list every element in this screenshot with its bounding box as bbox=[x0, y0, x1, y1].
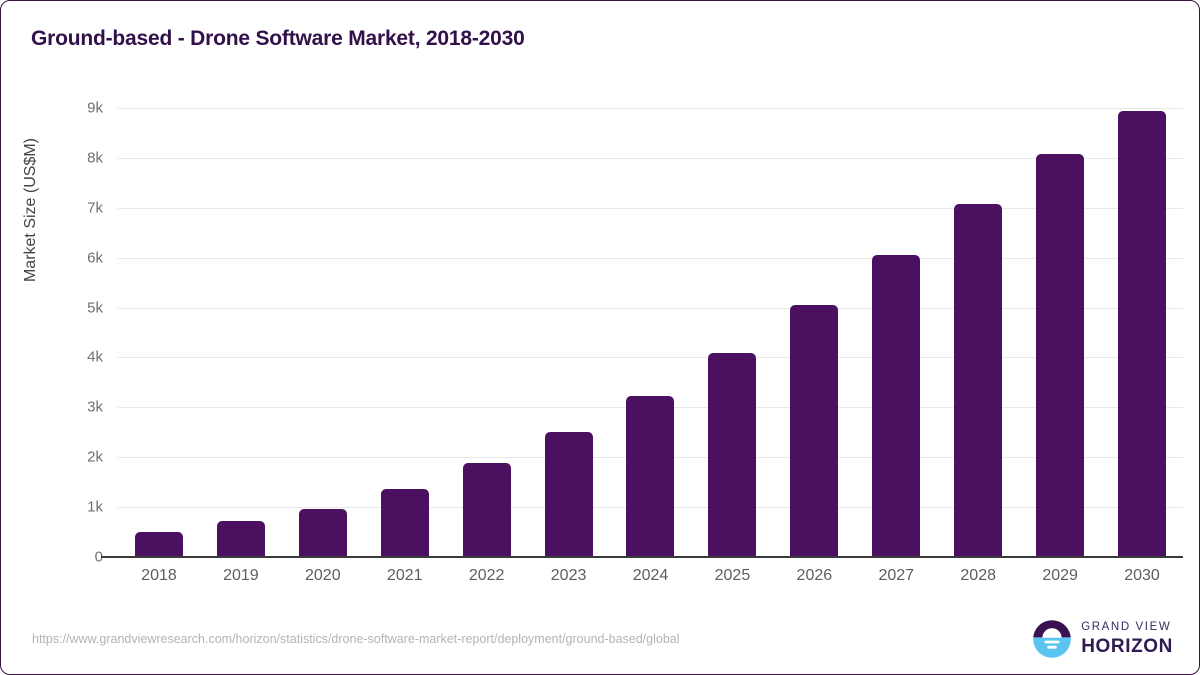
logo-bottom-text: HORIZON bbox=[1081, 637, 1173, 656]
y-axis-tick-labels: 01k2k3k4k5k6k7k8k9k bbox=[51, 108, 103, 557]
y-axis-title-wrapper: Market Size (US$M) bbox=[1, 1, 51, 675]
y-axis-tick: 5k bbox=[51, 299, 103, 316]
y-axis-tick: 9k bbox=[51, 100, 103, 117]
bar-2027[interactable] bbox=[872, 255, 920, 557]
x-axis-tick-2018: 2018 bbox=[104, 567, 214, 585]
bar-2019[interactable] bbox=[217, 521, 265, 557]
x-axis-tick-2023: 2023 bbox=[514, 567, 624, 585]
x-axis-tick-2028: 2028 bbox=[923, 567, 1033, 585]
bar-2028[interactable] bbox=[954, 204, 1002, 557]
bar-2024[interactable] bbox=[626, 396, 674, 557]
bar-slot bbox=[200, 108, 282, 557]
y-axis-tick: 2k bbox=[51, 449, 103, 466]
y-axis-tick: 4k bbox=[51, 349, 103, 366]
bar-2020[interactable] bbox=[299, 509, 347, 557]
y-axis-tick: 6k bbox=[51, 249, 103, 266]
x-axis-line bbox=[101, 556, 1183, 558]
x-axis-tick-2030: 2030 bbox=[1087, 567, 1197, 585]
source-url[interactable]: https://www.grandviewresearch.com/horizo… bbox=[32, 632, 680, 646]
bar-slot bbox=[118, 108, 200, 557]
logo-wordmark: GRAND VIEW HORIZON bbox=[1081, 622, 1173, 656]
y-axis-title: Market Size (US$M) bbox=[22, 0, 40, 420]
bar-slot bbox=[691, 108, 773, 557]
bar-slot bbox=[364, 108, 446, 557]
page-title: Ground-based - Drone Software Market, 20… bbox=[31, 27, 525, 51]
bar-slot bbox=[773, 108, 855, 557]
x-axis-tick-2024: 2024 bbox=[596, 567, 706, 585]
bar-2029[interactable] bbox=[1036, 154, 1084, 557]
bar-slot bbox=[446, 108, 528, 557]
x-axis-tick-2021: 2021 bbox=[350, 567, 460, 585]
y-axis-tick: 7k bbox=[51, 199, 103, 216]
horizon-circle-icon bbox=[1032, 619, 1072, 659]
bar-2026[interactable] bbox=[790, 305, 838, 557]
x-axis-tick-2020: 2020 bbox=[268, 567, 378, 585]
bar-slot bbox=[937, 108, 1019, 557]
logo-top-text: GRAND VIEW bbox=[1081, 622, 1173, 634]
bar-slot bbox=[528, 108, 610, 557]
y-axis-tick: 1k bbox=[51, 499, 103, 516]
y-axis-tick: 0 bbox=[51, 549, 103, 566]
bar-slot bbox=[855, 108, 937, 557]
y-axis-tick: 8k bbox=[51, 149, 103, 166]
bar-2022[interactable] bbox=[463, 463, 511, 557]
x-axis-tick-2022: 2022 bbox=[432, 567, 542, 585]
y-axis-tick: 3k bbox=[51, 399, 103, 416]
bar-2025[interactable] bbox=[708, 353, 756, 557]
bar-2018[interactable] bbox=[135, 532, 183, 557]
bar-slot bbox=[1101, 108, 1183, 557]
x-axis-tick-2025: 2025 bbox=[677, 567, 787, 585]
x-axis-tick-2029: 2029 bbox=[1005, 567, 1115, 585]
x-axis-tick-2027: 2027 bbox=[841, 567, 951, 585]
brand-logo[interactable]: GRAND VIEW HORIZON bbox=[1032, 619, 1173, 659]
bar-2030[interactable] bbox=[1118, 111, 1166, 557]
bar-slot bbox=[610, 108, 692, 557]
bar-2023[interactable] bbox=[545, 432, 593, 557]
x-axis-tick-2019: 2019 bbox=[186, 567, 296, 585]
bar-2021[interactable] bbox=[381, 489, 429, 557]
chart-canvas: Ground-based - Drone Software Market, 20… bbox=[0, 0, 1200, 675]
bar-slot bbox=[1019, 108, 1101, 557]
x-axis-tick-2026: 2026 bbox=[759, 567, 869, 585]
bar-slot bbox=[282, 108, 364, 557]
plot-area bbox=[118, 108, 1183, 557]
